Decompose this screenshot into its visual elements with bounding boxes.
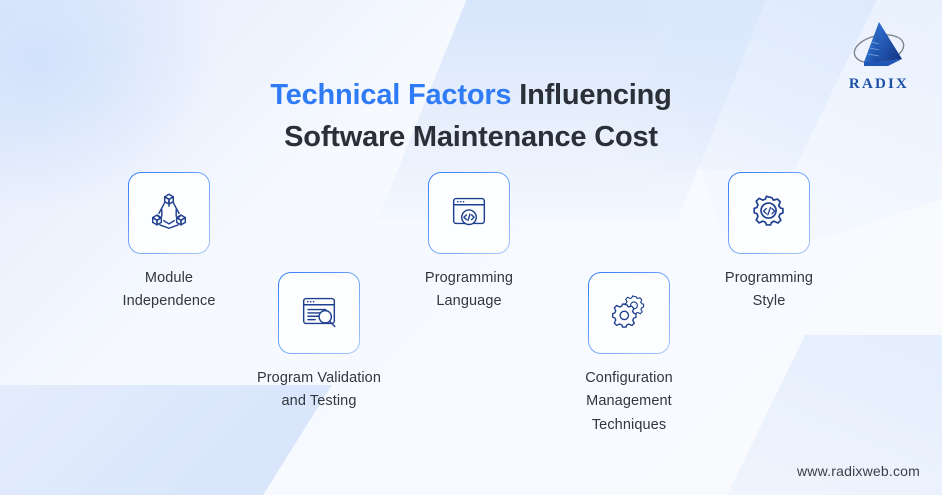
page-title-accent: Technical Factors — [270, 79, 511, 111]
gears-icon — [606, 288, 652, 339]
factor-item-programming-language[interactable]: Programming Language — [381, 172, 557, 314]
radix-pyramid-logo-icon — [836, 18, 922, 75]
connected-cubes-icon — [146, 188, 192, 239]
browser-code-icon — [446, 188, 492, 239]
site-url[interactable]: www.radixweb.com — [797, 463, 920, 479]
factor-label-line2: Language — [436, 293, 501, 309]
page-title-rest: Influencing — [511, 79, 671, 111]
infographic-canvas: RADIX Technical Factors Influencing Soft… — [0, 0, 942, 495]
icon-card — [428, 172, 510, 254]
factor-label-line1: Program Validation — [257, 370, 381, 386]
factor-label-line2: Style — [753, 293, 786, 309]
icon-card — [728, 172, 810, 254]
icon-card — [128, 172, 210, 254]
factor-label-line2: Techniques — [592, 417, 666, 433]
factor-label: Programming Style — [681, 267, 857, 314]
factor-label-line1: Module — [145, 270, 193, 286]
factor-label-line2: and Testing — [281, 393, 356, 409]
factor-label-line1: Programming — [725, 270, 813, 286]
gear-code-icon — [746, 188, 792, 239]
factor-label: Configuration Management Techniques — [541, 367, 717, 437]
page-title-line2: Software Maintenance Cost — [284, 121, 658, 153]
factor-item-programming-style[interactable]: Programming Style — [681, 172, 857, 314]
icon-card — [588, 272, 670, 354]
page-title: Technical Factors Influencing Software M… — [0, 75, 942, 157]
document-search-icon — [296, 288, 342, 339]
factor-label-line2: Independence — [122, 293, 215, 309]
factor-label-line1: Configuration Management — [585, 370, 673, 409]
factor-label-line1: Programming — [425, 270, 513, 286]
factor-label: Program Validation and Testing — [231, 367, 407, 414]
icon-card — [278, 272, 360, 354]
factor-label: Programming Language — [381, 267, 557, 314]
